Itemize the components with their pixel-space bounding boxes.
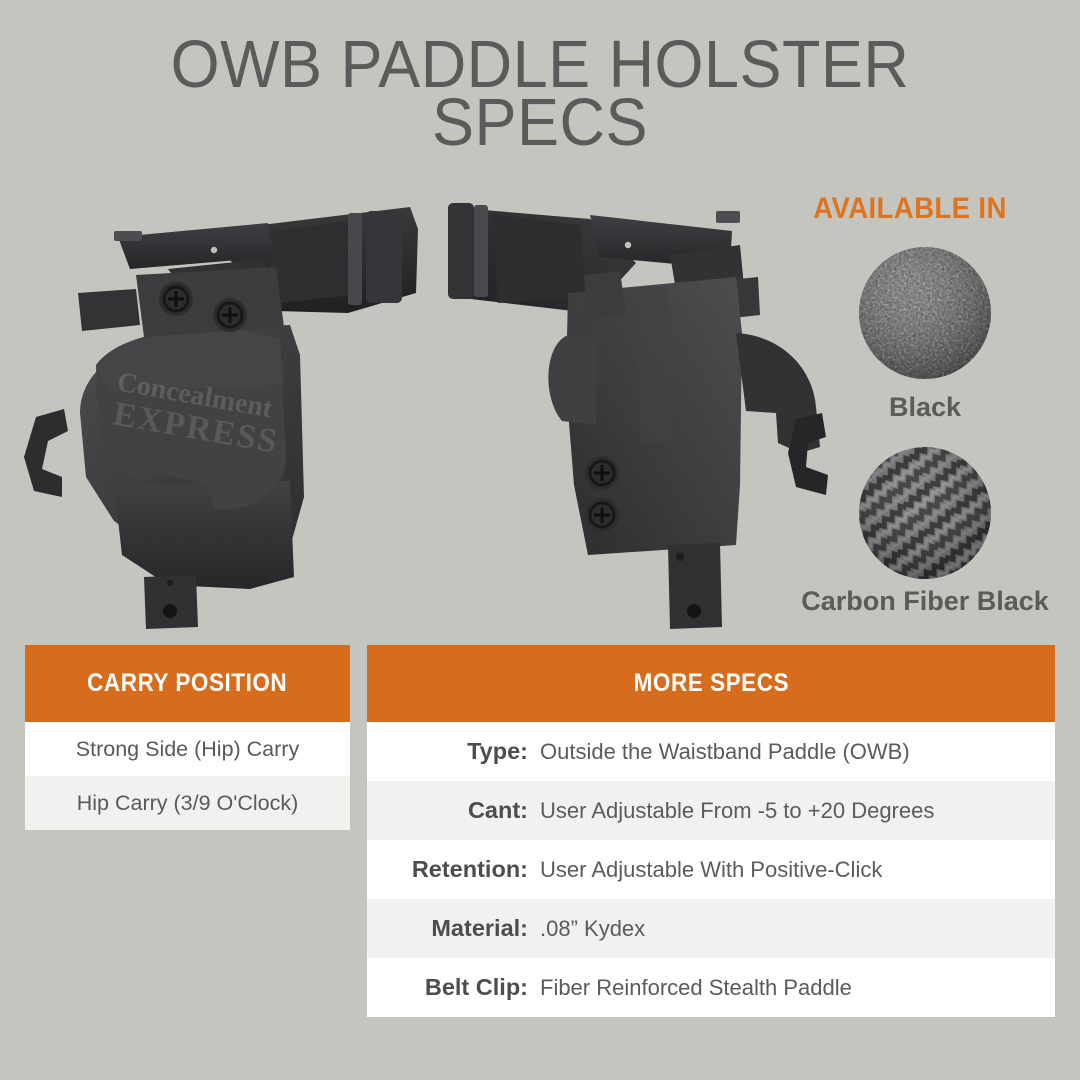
spec-label-belt-clip: Belt Clip: [367, 974, 528, 1001]
screw-upper [585, 456, 619, 490]
black-swatch[interactable] [859, 247, 991, 379]
black-swatch-label: Black [715, 392, 1080, 423]
spec-label-retention: Retention: [367, 856, 528, 883]
table-row: Cant: User Adjustable From -5 to +20 Deg… [367, 781, 1055, 840]
carry-position-value: Strong Side (Hip) Carry [76, 737, 299, 762]
more-specs-table-header: MORE SPECS [367, 645, 1055, 722]
table-row: Belt Clip: Fiber Reinforced Stealth Padd… [367, 958, 1055, 1017]
more-specs-table: MORE SPECS Type: Outside the Waistband P… [367, 645, 1055, 1017]
spec-label-cant: Cant: [367, 797, 528, 824]
page-title: OWB PADDLE HOLSTER SPECS [32, 36, 1047, 152]
screw-lower [213, 298, 247, 332]
holster-shell-lower [114, 481, 294, 589]
table-row: Hip Carry (3/9 O'Clock) [25, 776, 350, 830]
spec-label-material: Material: [367, 915, 528, 942]
available-in-heading: AVAILABLE IN [772, 192, 1048, 226]
carbon-fiber-swatch[interactable] [859, 447, 991, 579]
spec-label-type: Type: [367, 738, 528, 765]
spec-value-belt-clip: Fiber Reinforced Stealth Paddle [528, 975, 852, 1001]
screw-upper [159, 282, 193, 316]
carbon-fiber-swatch-texture [859, 447, 991, 579]
spec-value-type: Outside the Waistband Paddle (OWB) [528, 739, 910, 765]
table-row: Type: Outside the Waistband Paddle (OWB) [367, 722, 1055, 781]
infographic-page: OWB PADDLE HOLSTER SPECS [0, 0, 1080, 1080]
table-row: Strong Side (Hip) Carry [25, 722, 350, 776]
screw-lower [585, 498, 619, 532]
holster-shell-light-channel [636, 287, 672, 443]
more-specs-table-header-label: MORE SPECS [633, 669, 788, 698]
carry-position-table-header-label: CARRY POSITION [87, 669, 287, 698]
carry-position-value: Hip Carry (3/9 O'Clock) [77, 791, 299, 816]
holster-shell-trigger-bulge [548, 335, 598, 425]
black-swatch-texture [859, 247, 991, 379]
carry-position-table: CARRY POSITION Strong Side (Hip) Carry H… [25, 645, 350, 830]
retention-strap [136, 267, 284, 337]
spec-value-material: .08” Kydex [528, 916, 645, 942]
spec-value-retention: User Adjustable With Positive-Click [528, 857, 882, 883]
table-row: Material: .08” Kydex [367, 899, 1055, 958]
retention-lip [584, 271, 626, 319]
page-title-line-2: SPECS [32, 94, 1047, 152]
spec-value-cant: User Adjustable From -5 to +20 Degrees [528, 798, 934, 824]
table-row: Retention: User Adjustable With Positive… [367, 840, 1055, 899]
holster-paddle-side-image: Concealment EXPRESS [18, 185, 448, 630]
paddle-hook [24, 409, 68, 497]
carry-position-table-header: CARRY POSITION [25, 645, 350, 722]
carbon-fiber-swatch-label: Carbon Fiber Black [715, 586, 1080, 617]
